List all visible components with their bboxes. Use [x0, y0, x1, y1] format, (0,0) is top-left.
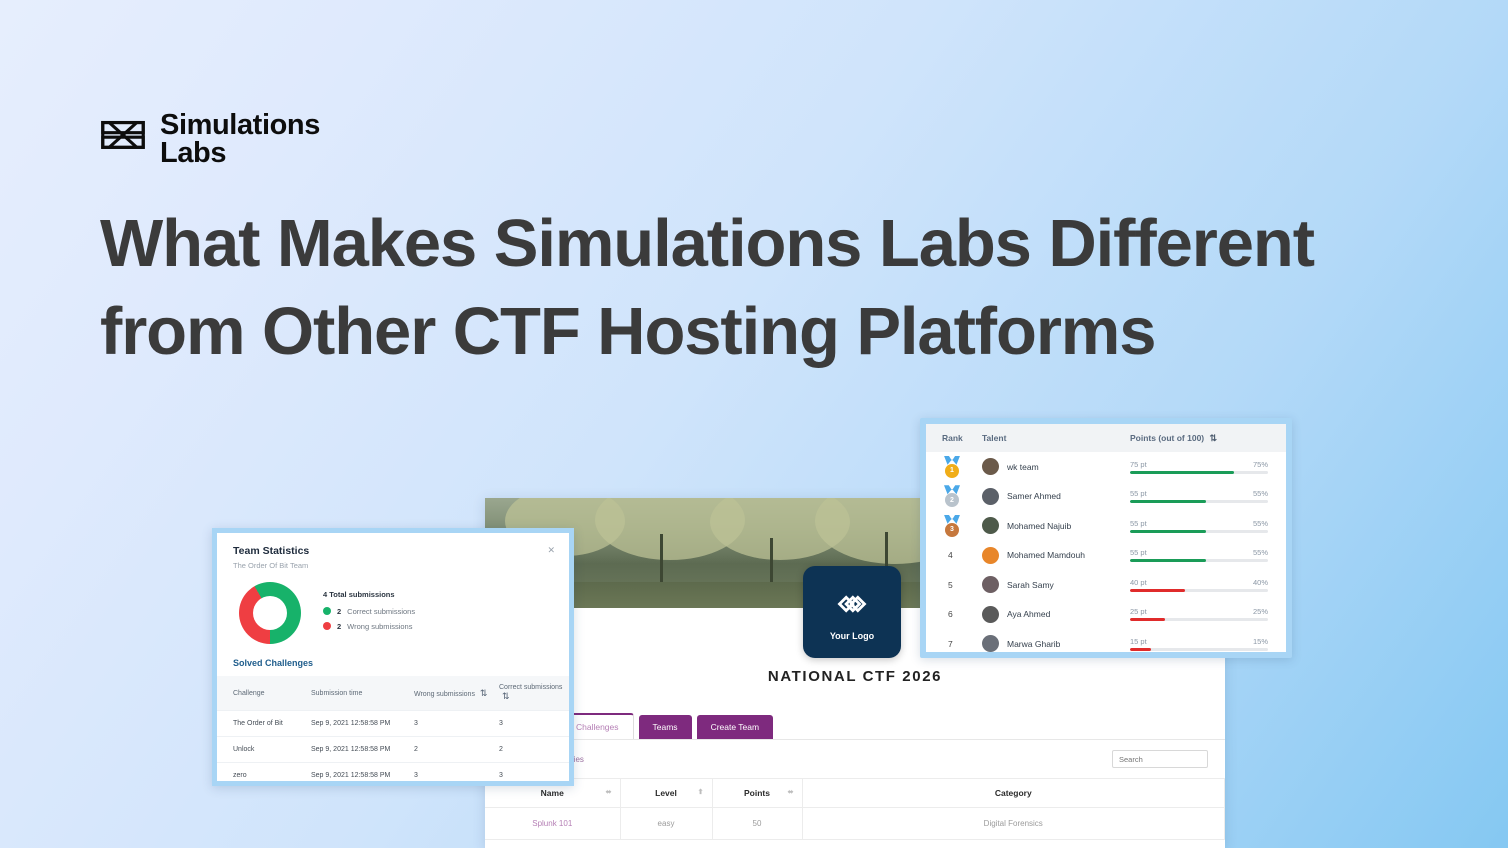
headline-line-1: What Makes Simulations Labs Different	[100, 200, 1480, 288]
rank-cell: 3	[930, 515, 982, 537]
challenge-level: easy	[620, 808, 712, 840]
points-cell: 40 pt40%	[1130, 578, 1282, 592]
cell-challenge: zero	[217, 763, 305, 787]
talent-name: Sarah Samy	[1007, 580, 1054, 590]
challenges-table: Name ⬌ Level ⬆ Points ⬌ Category Splunk …	[485, 778, 1225, 840]
leaderboard-row: 6Aya Ahmed25 pt25%	[926, 600, 1286, 630]
points-progress-bar	[1130, 471, 1268, 474]
search-input[interactable]	[1112, 750, 1208, 768]
avatar	[982, 488, 999, 505]
cell-correct: 3	[493, 711, 569, 737]
talent-cell: Aya Ahmed	[982, 606, 1130, 623]
points-percent: 55%	[1253, 489, 1268, 498]
talent-cell: Samer Ahmed	[982, 488, 1130, 505]
rank-cell: 5	[930, 580, 982, 590]
column-points-label: Points (out of 100)	[1130, 433, 1204, 443]
column-rank: Rank	[930, 433, 982, 443]
column-points-label: Points	[744, 788, 770, 798]
leaderboard-row: 3Mohamed Najuib55 pt55%	[926, 511, 1286, 541]
legend-wrong-label: Wrong submissions	[347, 622, 412, 631]
challenge-category: Digital Forensics	[802, 808, 1225, 840]
points-percent: 25%	[1253, 607, 1268, 616]
brand-line-2: Labs	[160, 140, 320, 168]
cell-time: Sep 9, 2021 12:58:58 PM	[305, 763, 408, 787]
avatar	[982, 458, 999, 475]
avatar	[982, 547, 999, 564]
rank-cell: 6	[930, 609, 982, 619]
rank-cell: 4	[930, 550, 982, 560]
points-progress-bar	[1130, 589, 1268, 592]
points-value: 15 pt	[1130, 637, 1147, 646]
points-value: 25 pt	[1130, 607, 1147, 616]
cell-wrong: 3	[408, 763, 493, 787]
talent-name: Mohamed Mamdouh	[1007, 550, 1085, 560]
points-percent: 75%	[1253, 460, 1268, 469]
medal-gold-icon: 1	[942, 456, 962, 478]
table-row: The Order of Bit Sep 9, 2021 12:58:58 PM…	[217, 711, 569, 737]
column-category[interactable]: Category	[802, 779, 1225, 808]
talent-cell: Mohamed Najuib	[982, 517, 1130, 534]
leaderboard-header: Rank Talent Points (out of 100) ⇅	[926, 424, 1286, 452]
talent-name: Aya Ahmed	[1007, 609, 1050, 619]
column-talent: Talent	[982, 433, 1130, 443]
column-level[interactable]: Level ⬆	[620, 779, 712, 808]
legend-correct-label: Correct submissions	[347, 607, 415, 616]
column-submission-time: Submission time	[305, 676, 408, 711]
cell-time: Sep 9, 2021 12:58:58 PM	[305, 737, 408, 763]
cell-correct: 2	[493, 737, 569, 763]
table-controls: Show 25 ▼ entries	[485, 739, 1225, 778]
sort-icon: ⬆	[698, 788, 704, 796]
your-logo-badge: Your Logo	[803, 566, 901, 658]
solved-challenges-table: Challenge Submission time Wrong submissi…	[217, 676, 569, 786]
interlocking-diamonds-logo-icon	[832, 584, 872, 624]
team-statistics-title: Team Statistics	[233, 545, 553, 557]
donut-legend: 4 Total submissions 2 Correct submission…	[323, 590, 415, 637]
medal-bronze-icon: 3	[942, 515, 962, 537]
talent-cell: Marwa Gharib	[982, 635, 1130, 652]
avatar	[982, 576, 999, 593]
leaderboard-panel: Rank Talent Points (out of 100) ⇅ 1wk te…	[920, 418, 1292, 658]
points-value: 75 pt	[1130, 460, 1147, 469]
brand-line-1: Simulations	[160, 112, 320, 140]
talent-name: Mohamed Najuib	[1007, 521, 1071, 531]
challenge-name-link[interactable]: Splunk 101	[485, 808, 620, 840]
rank-number: 5	[942, 580, 953, 590]
points-value: 55 pt	[1130, 489, 1147, 498]
talent-name: Samer Ahmed	[1007, 491, 1061, 501]
points-percent: 55%	[1253, 548, 1268, 557]
cell-time: Sep 9, 2021 12:58:58 PM	[305, 711, 408, 737]
points-cell: 55 pt55%	[1130, 548, 1282, 562]
avatar	[982, 517, 999, 534]
leaderboard-row: 2Samer Ahmed55 pt55%	[926, 482, 1286, 512]
legend-dot-wrong-icon	[323, 622, 331, 630]
points-cell: 25 pt25%	[1130, 607, 1282, 621]
points-cell: 55 pt55%	[1130, 519, 1282, 533]
column-correct-submissions[interactable]: Correct submissions ⇅	[493, 676, 569, 711]
column-category-label: Category	[995, 788, 1032, 798]
cell-wrong: 3	[408, 711, 493, 737]
talent-cell: Sarah Samy	[982, 576, 1130, 593]
close-icon[interactable]: ✕	[547, 545, 555, 556]
points-value: 55 pt	[1130, 519, 1147, 528]
points-progress-bar	[1130, 618, 1268, 621]
rank-number: 6	[942, 609, 953, 619]
challenges-table-header: Name ⬌ Level ⬆ Points ⬌ Category	[485, 779, 1225, 808]
ctf-tabs: Details Challenges Teams Create Team	[485, 713, 1225, 739]
legend-item-wrong: 2 Wrong submissions	[323, 622, 415, 631]
sort-icon: ⬌	[788, 788, 794, 796]
cell-challenge: Unlock	[217, 737, 305, 763]
brand-wordmark: Simulations Labs	[160, 112, 320, 168]
medal-silver-icon: 2	[942, 485, 962, 507]
points-cell: 55 pt55%	[1130, 489, 1282, 503]
table-row: zero Sep 9, 2021 12:58:58 PM 3 3	[217, 763, 569, 787]
cell-challenge: The Order of Bit	[217, 711, 305, 737]
cell-wrong: 2	[408, 737, 493, 763]
sort-icon: ⬌	[606, 788, 612, 796]
total-submissions-label: 4 Total submissions	[323, 590, 395, 599]
points-progress-bar	[1130, 500, 1268, 503]
column-points[interactable]: Points (out of 100) ⇅	[1130, 433, 1282, 444]
column-wrong-label: Wrong submissions	[414, 691, 475, 698]
solved-table-header: Challenge Submission time Wrong submissi…	[217, 676, 569, 711]
simulations-labs-logo-icon	[100, 117, 146, 163]
talent-cell: wk team	[982, 458, 1130, 475]
points-percent: 15%	[1253, 637, 1268, 646]
tab-teams[interactable]: Teams	[639, 715, 692, 739]
sort-icon: ⇅	[1210, 433, 1216, 443]
submissions-donut-chart	[239, 582, 301, 644]
legend-dot-correct-icon	[323, 607, 331, 615]
points-cell: 15 pt15%	[1130, 637, 1282, 651]
points-value: 55 pt	[1130, 548, 1147, 557]
challenge-points: 50	[712, 808, 802, 840]
points-percent: 55%	[1253, 519, 1268, 528]
points-percent: 40%	[1253, 578, 1268, 587]
team-statistics-subtitle: The Order Of Bit Team	[233, 561, 553, 570]
leaderboard-row: 5Sarah Samy40 pt40%	[926, 570, 1286, 600]
column-challenge: Challenge	[217, 676, 305, 711]
table-row: Unlock Sep 9, 2021 12:58:58 PM 2 2	[217, 737, 569, 763]
rank-cell: 2	[930, 485, 982, 507]
column-correct-label: Correct submissions	[499, 684, 562, 691]
team-statistics-panel: Team Statistics ✕ The Order Of Bit Team …	[212, 528, 574, 786]
column-points[interactable]: Points ⬌	[712, 779, 802, 808]
solved-challenges-heading: Solved Challenges	[217, 644, 569, 676]
sort-icon: ⇅	[502, 691, 508, 701]
leaderboard-row: 1wk team75 pt75%	[926, 452, 1286, 482]
your-logo-label: Your Logo	[830, 631, 874, 641]
rank-cell: 1	[930, 456, 982, 478]
table-row: Splunk 101 easy 50 Digital Forensics	[485, 808, 1225, 840]
leaderboard-row: 7Marwa Gharib15 pt15%	[926, 629, 1286, 658]
sort-icon: ⇅	[480, 688, 486, 698]
points-value: 40 pt	[1130, 578, 1147, 587]
avatar	[982, 606, 999, 623]
column-name-label: Name	[541, 788, 564, 798]
points-progress-bar	[1130, 530, 1268, 533]
brand-logo: Simulations Labs	[100, 112, 320, 168]
column-level-label: Level	[655, 788, 677, 798]
legend-item-correct: 2 Correct submissions	[323, 607, 415, 616]
rank-number: 7	[942, 639, 953, 649]
leaderboard-body: 1wk team75 pt75%2Samer Ahmed55 pt55%3Moh…	[926, 452, 1286, 658]
talent-name: Marwa Gharib	[1007, 639, 1060, 649]
points-progress-bar	[1130, 648, 1268, 651]
page-title: What Makes Simulations Labs Different fr…	[100, 200, 1480, 377]
cell-correct: 3	[493, 763, 569, 787]
headline-line-2: from Other CTF Hosting Platforms	[100, 288, 1480, 376]
leaderboard-row: 4Mohamed Mamdouh55 pt55%	[926, 541, 1286, 571]
ctf-event-title: NATIONAL CTF 2026	[485, 668, 1225, 685]
legend-wrong-count: 2	[337, 622, 341, 631]
column-wrong-submissions[interactable]: Wrong submissions ⇅	[408, 676, 493, 711]
points-progress-bar	[1130, 559, 1268, 562]
rank-number: 4	[942, 550, 953, 560]
talent-name: wk team	[1007, 462, 1039, 472]
talent-cell: Mohamed Mamdouh	[982, 547, 1130, 564]
rank-cell: 7	[930, 639, 982, 649]
points-cell: 75 pt75%	[1130, 460, 1282, 474]
legend-correct-count: 2	[337, 607, 341, 616]
tab-create-team[interactable]: Create Team	[697, 715, 774, 739]
avatar	[982, 635, 999, 652]
